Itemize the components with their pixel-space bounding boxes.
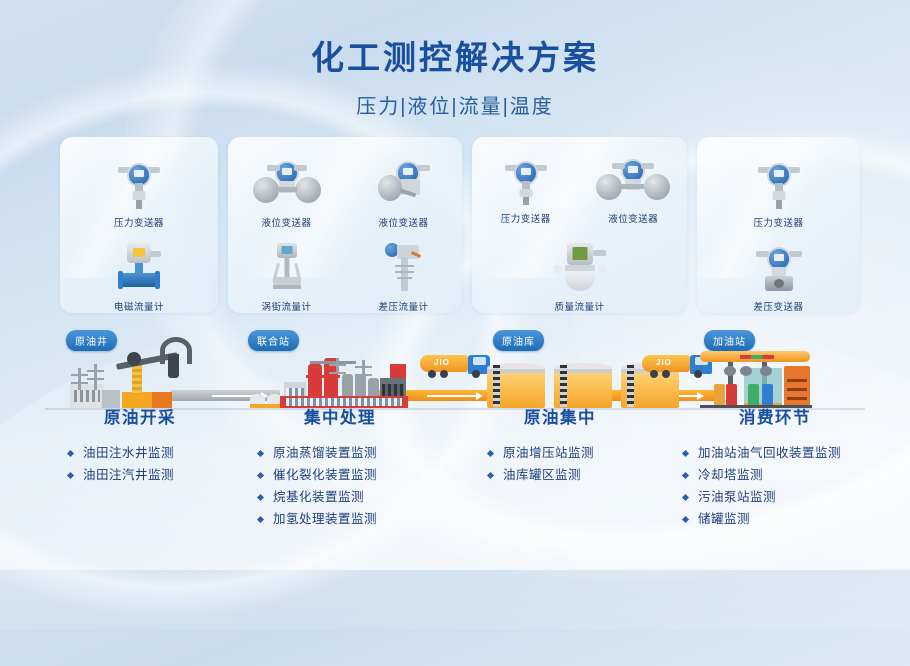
stage-badge-gas-station: 加油站 [704, 330, 755, 351]
list-item-label: 原油增压站监测 [503, 446, 594, 460]
refinery-plant-illustration [250, 346, 410, 408]
diamond-bullet-icon [682, 494, 689, 501]
list-item-label: 原油蒸馏装置监测 [273, 446, 377, 460]
list-item[interactable]: 原油蒸馏装置监测 [257, 442, 445, 464]
monitoring-item-list: 原油蒸馏装置监测 催化裂化装置监测 烷基化装置监测 加氢处理装置监测 [257, 442, 445, 530]
list-item-label: 油田注汽井监测 [83, 468, 174, 482]
list-item-label: 冷却塔监测 [698, 468, 763, 482]
list-item[interactable]: 原油增压站监测 [487, 442, 655, 464]
diamond-bullet-icon [257, 450, 264, 457]
product-label: 液位变送器 [608, 211, 658, 225]
diamond-bullet-icon [67, 450, 74, 457]
column-title: 原油开采 [45, 404, 235, 428]
diamond-bullet-icon [682, 516, 689, 523]
monitoring-item-list: 油田注水井监测 油田注汽井监测 [67, 442, 235, 486]
product-item[interactable]: 涡街流量计 [228, 229, 345, 313]
product-item[interactable]: 压力变送器 [697, 145, 860, 229]
product-item[interactable]: 电磁流量计 [60, 229, 218, 313]
list-item[interactable]: 烷基化装置监测 [257, 486, 445, 508]
product-card-4[interactable]: 压力变送器 差压变送器 [697, 137, 860, 313]
page-header: 化工测控解决方案 压力|液位|流量|温度 [0, 38, 910, 119]
product-item[interactable]: 液位变送器 [228, 145, 345, 229]
truck-logo: JIO [434, 358, 450, 367]
level-transmitter-dual-flange-icon [251, 157, 323, 209]
product-label: 差压变送器 [753, 299, 803, 313]
list-item-label: 烷基化装置监测 [273, 490, 364, 504]
diamond-bullet-icon [257, 494, 264, 501]
list-item[interactable]: 油库罐区监测 [487, 464, 655, 486]
solution-columns: 原油开采 油田注水井监测 油田注汽井监测 集中处理 原油蒸馏装置监测 催化裂化装… [0, 404, 910, 554]
differential-pressure-transmitter-icon [754, 241, 804, 293]
product-label: 质量流量计 [554, 299, 604, 313]
list-item-label: 污油泵站监测 [698, 490, 776, 504]
stage-column-crude-collection: 原油集中 原油增压站监测 油库罐区监测 [465, 404, 655, 486]
product-label: 压力变送器 [501, 211, 551, 225]
level-transmitter-dual-flange-icon [594, 153, 672, 205]
product-label: 压力变送器 [114, 215, 164, 229]
list-item-label: 催化裂化装置监测 [273, 468, 377, 482]
pressure-transmitter-icon [116, 157, 162, 209]
list-item[interactable]: 加油站油气回收装置监测 [682, 442, 890, 464]
stage-column-consumption: 消费环节 加油站油气回收装置监测 冷却塔监测 污油泵站监测 储罐监测 [660, 404, 890, 530]
product-item[interactable]: 压力变送器 [60, 145, 218, 229]
pressure-transmitter-icon [756, 157, 802, 209]
list-item-label: 油田注水井监测 [83, 446, 174, 460]
list-item-label: 储罐监测 [698, 512, 750, 526]
column-title: 原油集中 [465, 404, 655, 428]
product-card-2[interactable]: 液位变送器 液位变送器 [228, 137, 462, 313]
product-label: 液位变送器 [378, 215, 428, 229]
product-card-3[interactable]: 压力变送器 液位变送器 [472, 137, 687, 313]
product-item[interactable]: 液位变送器 [580, 145, 688, 225]
product-item[interactable]: 压力变送器 [472, 145, 580, 225]
list-item[interactable]: 冷却塔监测 [682, 464, 890, 486]
product-item[interactable]: 差压流量计 [345, 229, 462, 313]
list-item[interactable]: 加氢处理装置监测 [257, 508, 445, 530]
list-item[interactable]: 催化裂化装置监测 [257, 464, 445, 486]
stage-badge-crude-depot: 原油库 [493, 330, 544, 351]
list-item-label: 加氢处理装置监测 [273, 512, 377, 526]
column-title: 消费环节 [660, 404, 890, 428]
product-label: 电磁流量计 [114, 299, 164, 313]
vortex-flowmeter-icon [264, 241, 310, 293]
product-label: 液位变送器 [261, 215, 311, 229]
list-item-label: 加油站油气回收装置监测 [698, 446, 841, 460]
product-card-row: 压力变送器 电磁流量计 [60, 137, 860, 313]
mass-flowmeter-icon [551, 241, 609, 293]
stage-badge-crude-well: 原油井 [66, 330, 117, 351]
diamond-bullet-icon [487, 450, 494, 457]
column-title: 集中处理 [235, 404, 445, 428]
stage-column-crude-extraction: 原油开采 油田注水井监测 油田注汽井监测 [45, 404, 235, 486]
page-subtitle: 压力|液位|流量|温度 [0, 90, 910, 119]
diamond-bullet-icon [487, 472, 494, 479]
page-title: 化工测控解决方案 [0, 38, 910, 78]
diamond-bullet-icon [257, 516, 264, 523]
pressure-transmitter-icon [503, 153, 549, 205]
diamond-bullet-icon [257, 472, 264, 479]
flow-arrow-icon [427, 395, 482, 397]
diamond-bullet-icon [67, 472, 74, 479]
level-transmitter-single-flange-icon [376, 157, 432, 209]
product-item[interactable]: 液位变送器 [345, 145, 462, 229]
process-flow-strip: 原油井 联合站 JIO 原油库 [0, 330, 910, 410]
product-label: 差压流量计 [378, 299, 428, 313]
list-item-label: 油库罐区监测 [503, 468, 581, 482]
differential-pressure-flowmeter-icon [381, 241, 427, 293]
tanker-truck-1: JIO [420, 352, 492, 378]
pumpjack-oil-well-illustration [64, 350, 194, 408]
product-label: 涡街流量计 [261, 299, 311, 313]
list-item[interactable]: 污油泵站监测 [682, 486, 890, 508]
monitoring-item-list: 原油增压站监测 油库罐区监测 [487, 442, 655, 486]
monitoring-item-list: 加油站油气回收装置监测 冷却塔监测 污油泵站监测 储罐监测 [682, 442, 890, 530]
product-item[interactable]: 质量流量计 [472, 225, 687, 313]
product-item[interactable]: 差压变送器 [697, 229, 860, 313]
diamond-bullet-icon [682, 450, 689, 457]
product-label: 压力变送器 [753, 215, 803, 229]
list-item[interactable]: 油田注水井监测 [67, 442, 235, 464]
gas-station-illustration [700, 350, 815, 408]
electromagnetic-flowmeter-icon [113, 241, 165, 293]
truck-logo: JIO [656, 358, 672, 367]
product-card-1[interactable]: 压力变送器 电磁流量计 [60, 137, 218, 313]
stage-column-central-processing: 集中处理 原油蒸馏装置监测 催化裂化装置监测 烷基化装置监测 加氢处理装置监测 [235, 404, 445, 530]
list-item[interactable]: 油田注汽井监测 [67, 464, 235, 486]
list-item[interactable]: 储罐监测 [682, 508, 890, 530]
diamond-bullet-icon [682, 472, 689, 479]
